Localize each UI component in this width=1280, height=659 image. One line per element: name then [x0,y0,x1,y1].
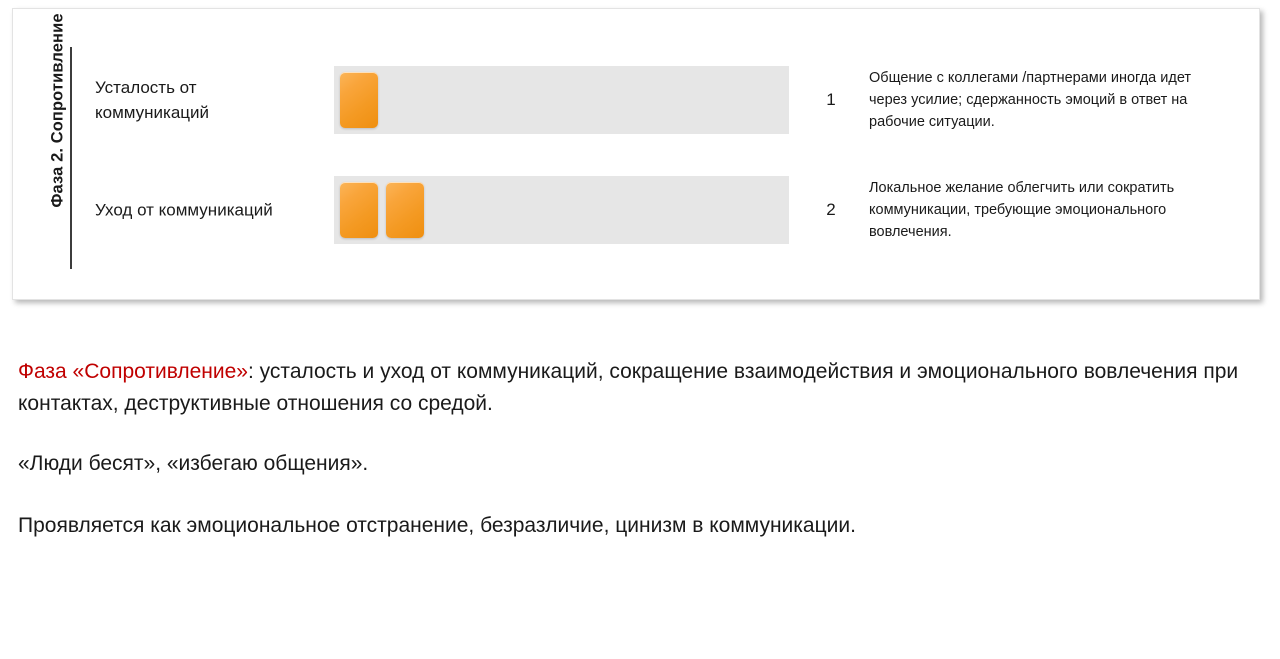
unit-block [386,182,424,238]
unit-block [340,182,378,238]
phase-card: Фаза 2. Сопротивление Усталость от комму… [12,8,1260,300]
table-row: Усталость от коммуникаций 1 Общение с ко… [13,59,1259,141]
summary-paragraph-3: Проявляется как эмоциональное отстранени… [18,510,1258,542]
row-track [334,66,789,134]
table-row: Уход от коммуникаций 2 Локальное желание… [13,169,1259,251]
row-label: Усталость от коммуникаций [95,75,310,125]
row-track [334,176,789,244]
row-description: Локальное желание облегчить или сократит… [869,177,1209,243]
row-index: 2 [815,200,847,220]
unit-block [340,72,378,128]
summary-text: Фаза «Сопротивление»: усталость и уход о… [18,356,1258,542]
row-blocks [340,72,378,128]
row-description: Общение с коллегами /партнерами иногда и… [869,67,1209,133]
summary-paragraph-1: Фаза «Сопротивление»: усталость и уход о… [18,356,1258,420]
row-label: Уход от коммуникаций [95,198,310,223]
summary-accent-phrase: Фаза «Сопротивление» [18,360,248,383]
phase-rows: Усталость от коммуникаций 1 Общение с ко… [13,9,1259,299]
summary-paragraph-2: «Люди бесят», «избегаю общения». [18,448,1258,480]
row-index: 1 [815,90,847,110]
row-blocks [340,182,424,238]
